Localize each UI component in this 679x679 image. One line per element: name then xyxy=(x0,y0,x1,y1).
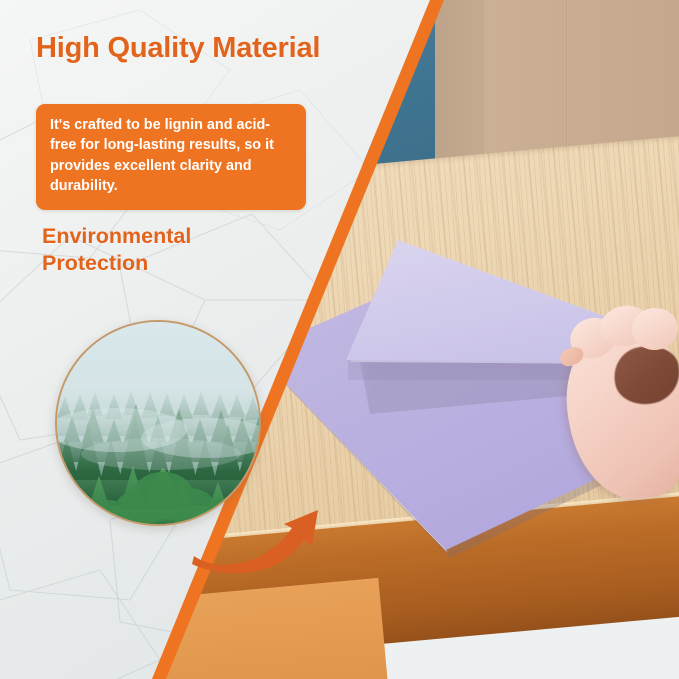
section-subtitle: Environmental Protection xyxy=(42,223,191,276)
page-title: High Quality Material xyxy=(36,32,320,65)
forest-photo-circle xyxy=(55,320,261,526)
product-feature-image: High Quality Material It's crafted to be… xyxy=(0,0,679,679)
curved-arrow-icon xyxy=(192,498,332,573)
feature-callout-box: It's crafted to be lignin and acid-free … xyxy=(36,104,306,210)
hand-lifting-paper xyxy=(556,288,679,518)
forest-trees xyxy=(57,322,259,524)
callout-text: It's crafted to be lignin and acid-free … xyxy=(50,115,292,197)
